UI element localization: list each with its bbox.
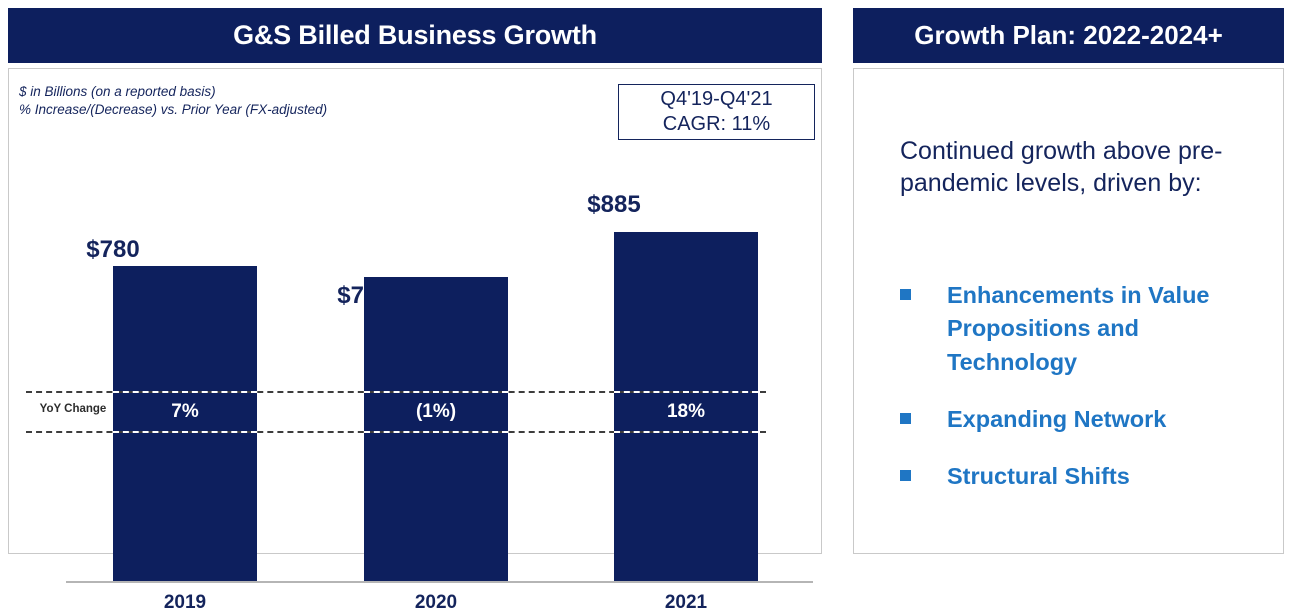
yoy-change-label: YoY Change	[27, 403, 119, 415]
bullet-label: Expanding Network	[947, 403, 1166, 436]
bar-value-label: $885	[514, 191, 714, 219]
list-item: Expanding Network	[900, 403, 1270, 436]
billed-business-growth-panel: G&S Billed Business Growth $ in Billions…	[8, 8, 822, 554]
x-axis-line	[66, 581, 813, 583]
yoy-value-2021: 18%	[614, 401, 758, 423]
growth-plan-bullet-list: Enhancements in Value Propositions and T…	[900, 279, 1270, 518]
chart-body: $ in Billions (on a reported basis) % In…	[8, 68, 822, 554]
growth-plan-header-bar: Growth Plan: 2022-2024+	[853, 8, 1284, 63]
x-tick-2021: 2021	[586, 592, 786, 614]
growth-plan-lead-text: Continued growth above pre-pandemic leve…	[900, 135, 1250, 199]
list-item: Enhancements in Value Propositions and T…	[900, 279, 1270, 379]
growth-plan-panel: Growth Plan: 2022-2024+ Continued growth…	[853, 8, 1284, 554]
x-tick-2020: 2020	[336, 592, 536, 614]
bullet-label: Enhancements in Value Propositions and T…	[947, 279, 1270, 379]
yoy-value-2019: 7%	[113, 401, 257, 423]
chart-title: G&S Billed Business Growth	[233, 20, 597, 51]
list-item: Structural Shifts	[900, 460, 1270, 493]
bullet-label: Structural Shifts	[947, 460, 1130, 493]
yoy-band-top-line	[26, 391, 766, 393]
bar-2019	[113, 266, 257, 581]
chart-header-bar: G&S Billed Business Growth	[8, 8, 822, 63]
growth-plan-body: Continued growth above pre-pandemic leve…	[853, 68, 1284, 554]
growth-plan-title: Growth Plan: 2022-2024+	[914, 20, 1223, 51]
square-bullet-icon	[900, 470, 911, 481]
yoy-band-bottom-line	[26, 431, 766, 433]
square-bullet-icon	[900, 413, 911, 424]
yoy-value-2020: (1%)	[364, 401, 508, 423]
bar-value-label: $780	[13, 236, 213, 264]
bar-2020	[364, 277, 508, 581]
bar-chart-plot-area: $780 $742 $885 YoY Change 7% (1%) 18	[9, 69, 821, 553]
x-tick-2019: 2019	[85, 592, 285, 614]
square-bullet-icon	[900, 289, 911, 300]
